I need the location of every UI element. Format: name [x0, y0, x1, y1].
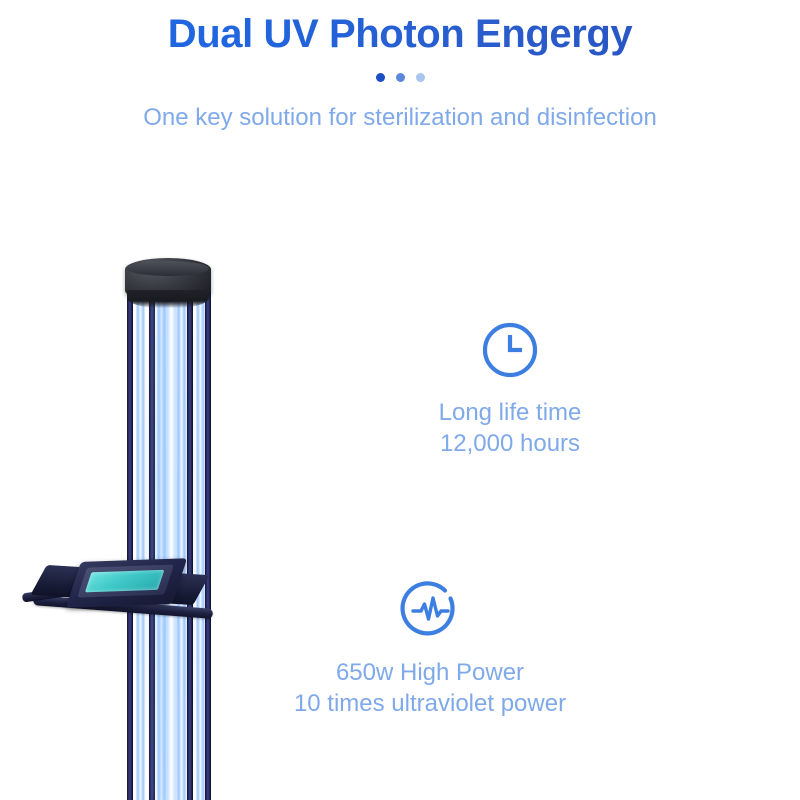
- uv-tube-4: [196, 288, 205, 800]
- feature-high-power-text: 650w High Power 10 times ultraviolet pow…: [240, 642, 620, 719]
- feature-high-power-line2: 10 times ultraviolet power: [240, 689, 620, 720]
- clock-icon: [478, 318, 542, 382]
- uv-rod-1: [127, 288, 133, 800]
- feature-high-power: 650w High Power 10 times ultraviolet pow…: [240, 578, 620, 719]
- uv-rod-3: [187, 288, 193, 800]
- lamp-cap-skirt: [127, 290, 209, 308]
- uv-rod-4: [205, 288, 211, 800]
- feature-long-life-line2: 12,000 hours: [320, 429, 700, 460]
- pulse-icon: [398, 578, 462, 642]
- feature-long-life: Long life time 12,000 hours: [320, 318, 700, 459]
- carousel-dot-2[interactable]: [396, 73, 405, 82]
- lcd-display: [85, 570, 164, 593]
- product-banner-page: Dual UV Photon Engergy One key solution …: [0, 0, 800, 800]
- carousel-dot-3[interactable]: [416, 73, 425, 82]
- feature-long-life-text: Long life time 12,000 hours: [320, 382, 700, 459]
- carousel-dot-1[interactable]: [376, 73, 385, 82]
- feature-long-life-line1: Long life time: [439, 399, 582, 426]
- control-panel[interactable]: [66, 558, 187, 608]
- uv-rod-2: [149, 288, 155, 800]
- carousel-dots[interactable]: [0, 71, 800, 85]
- page-subtitle: One key solution for sterilization and d…: [140, 85, 660, 134]
- banner-header: Dual UV Photon Engergy One key solution …: [0, 0, 800, 134]
- panel-bezel: [77, 565, 174, 598]
- feature-high-power-line1: 650w High Power: [336, 659, 524, 686]
- uv-tube-array: [127, 288, 213, 800]
- uv-tube-1: [136, 288, 145, 800]
- uv-tube-3: [177, 288, 186, 800]
- page-title: Dual UV Photon Engergy: [0, 0, 800, 57]
